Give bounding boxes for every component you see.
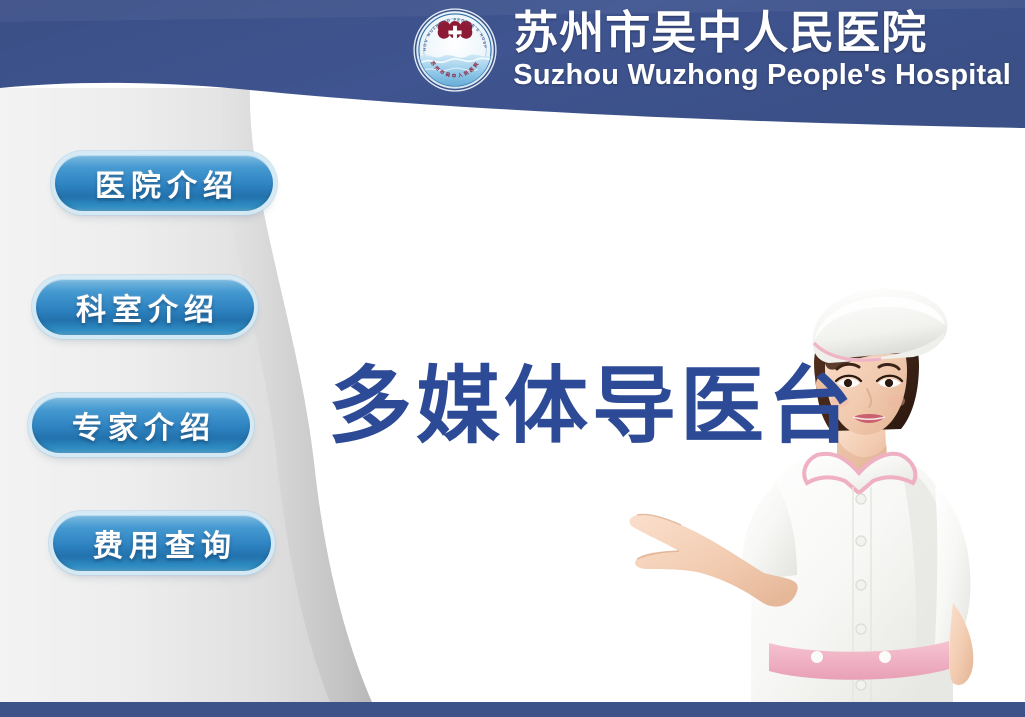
sidebar-item-label: 专家介绍 [66,403,216,447]
hospital-seal-logo: SUZHOU WUZHONG PEOPLE'S HOSPITAL 苏州市吴中人民… [411,6,499,94]
sidebar-item-department-introduction[interactable]: 科室介绍 [36,279,254,335]
sidebar-item-label: 科室介绍 [70,285,220,329]
hospital-name-en: Suzhou Wuzhong People's Hospital [513,58,1011,92]
sidebar-item-expert-introduction[interactable]: 专家介绍 [32,397,250,453]
sidebar-item-fee-inquiry[interactable]: 费用查询 [53,515,271,571]
hospital-name-cn: 苏州市吴中人民医院 [513,8,927,58]
sidebar-nav: 医院介绍 科室介绍 专家介绍 费用查询 [0,0,330,717]
brand-lockup: SUZHOU WUZHONG PEOPLE'S HOSPITAL 苏州市吴中人民… [411,6,1011,94]
page-title: 多媒体导医台 [328,358,856,454]
footer-band [0,702,1025,717]
brand-text: 苏州市吴中人民医院 Suzhou Wuzhong People's Hospit… [513,8,1011,92]
kiosk-screen: SUZHOU WUZHONG PEOPLE'S HOSPITAL 苏州市吴中人民… [0,0,1025,717]
sidebar-item-label: 费用查询 [87,521,237,565]
sidebar-item-label: 医院介绍 [89,161,239,205]
sidebar-item-hospital-introduction[interactable]: 医院介绍 [55,155,273,211]
